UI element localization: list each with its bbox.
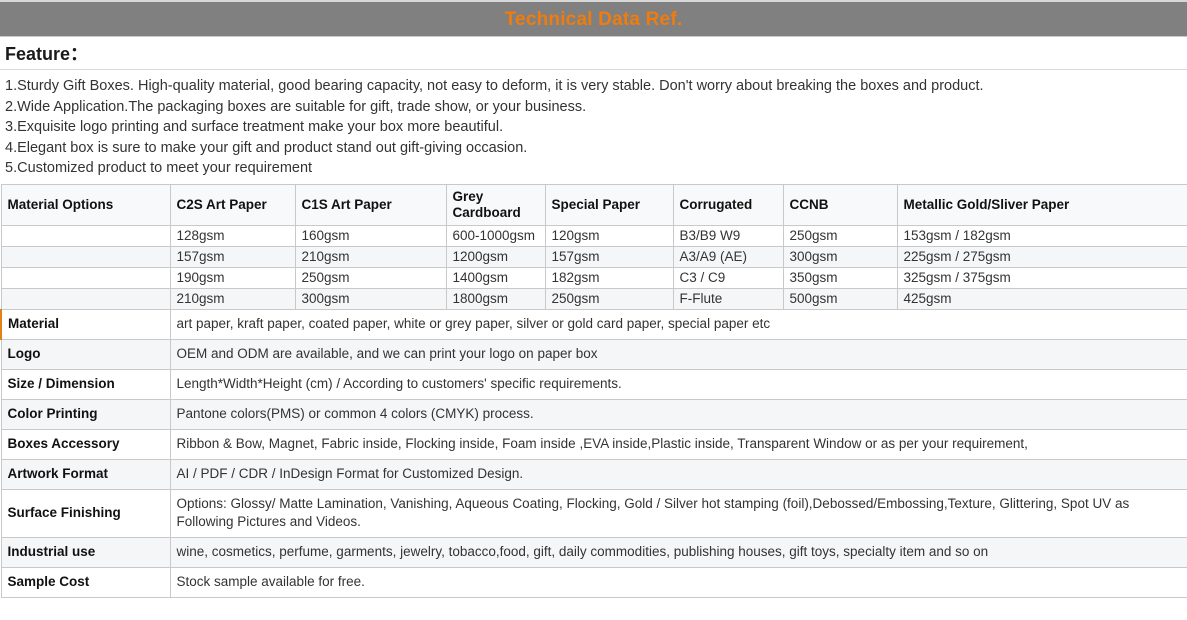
spec-label: Size / Dimension [1,369,170,399]
spec-row-sample-cost: Sample Cost Stock sample available for f… [1,567,1187,597]
matrix-cell: 128gsm [170,225,295,246]
spec-value: OEM and ODM are available, and we can pr… [170,339,1187,369]
bottom-spacer [0,598,1187,620]
matrix-cell: B3/B9 W9 [673,225,783,246]
spec-value: Stock sample available for free. [170,567,1187,597]
spec-label: Logo [1,339,170,369]
matrix-cell: 157gsm [545,246,673,267]
spec-label: Artwork Format [1,459,170,489]
table-row: 157gsm 210gsm 1200gsm 157gsm A3/A9 (AE) … [1,246,1187,267]
matrix-cell: 250gsm [545,288,673,309]
matrix-header-cell: Material Options [1,184,170,225]
spec-value: Ribbon & Bow, Magnet, Fabric inside, Flo… [170,429,1187,459]
matrix-cell: 1800gsm [446,288,545,309]
matrix-cell: 1200gsm [446,246,545,267]
matrix-header-cell: Corrugated [673,184,783,225]
matrix-header-cell: C2S Art Paper [170,184,295,225]
spec-row-logo: Logo OEM and ODM are available, and we c… [1,339,1187,369]
matrix-cell: 300gsm [295,288,446,309]
spec-value: wine, cosmetics, perfume, garments, jewe… [170,537,1187,567]
matrix-header-cell: Special Paper [545,184,673,225]
matrix-cell: F-Flute [673,288,783,309]
spec-row-size-dimension: Size / Dimension Length*Width*Height (cm… [1,369,1187,399]
spec-row-artwork-format: Artwork Format AI / PDF / CDR / InDesign… [1,459,1187,489]
matrix-cell [1,225,170,246]
spec-label: Sample Cost [1,567,170,597]
matrix-header-cell: CCNB [783,184,897,225]
matrix-cell [1,246,170,267]
matrix-cell: 157gsm [170,246,295,267]
matrix-header-row: Material Options C2S Art Paper C1S Art P… [1,184,1187,225]
matrix-cell: 300gsm [783,246,897,267]
matrix-header-cell: Grey Cardboard [446,184,545,225]
matrix-header-cell: Metallic Gold/Sliver Paper [897,184,1187,225]
matrix-cell: 1400gsm [446,267,545,288]
spec-label: Material [1,309,170,339]
spec-row-surface-finishing: Surface Finishing Options: Glossy/ Matte… [1,489,1187,537]
spec-value: Length*Width*Height (cm) / According to … [170,369,1187,399]
matrix-header-cell: C1S Art Paper [295,184,446,225]
feature-heading-row: Feature： [0,37,1187,70]
matrix-cell: 182gsm [545,267,673,288]
spec-value: AI / PDF / CDR / InDesign Format for Cus… [170,459,1187,489]
specification-table: Material Options C2S Art Paper C1S Art P… [0,184,1187,598]
spec-row-color-printing: Color Printing Pantone colors(PMS) or co… [1,399,1187,429]
spec-row-boxes-accessory: Boxes Accessory Ribbon & Bow, Magnet, Fa… [1,429,1187,459]
technical-data-sheet: Technical Data Ref. Feature： 1.Sturdy Gi… [0,0,1187,620]
spec-label: Boxes Accessory [1,429,170,459]
spec-label: Industrial use [1,537,170,567]
matrix-cell [1,288,170,309]
matrix-cell [1,267,170,288]
matrix-cell: 500gsm [783,288,897,309]
matrix-cell: 153gsm / 182gsm [897,225,1187,246]
matrix-cell: 210gsm [170,288,295,309]
table-row: 210gsm 300gsm 1800gsm 250gsm F-Flute 500… [1,288,1187,309]
table-row: 128gsm 160gsm 600-1000gsm 120gsm B3/B9 W… [1,225,1187,246]
matrix-cell: 250gsm [295,267,446,288]
spec-value: Pantone colors(PMS) or common 4 colors (… [170,399,1187,429]
matrix-cell: 225gsm / 275gsm [897,246,1187,267]
spec-value: Options: Glossy/ Matte Lamination, Vanis… [170,489,1187,537]
page-title: Technical Data Ref. [505,10,683,29]
spec-row-industrial-use: Industrial use wine, cosmetics, perfume,… [1,537,1187,567]
feature-item: 2.Wide Application.The packaging boxes a… [5,97,1187,118]
matrix-cell: 600-1000gsm [446,225,545,246]
matrix-cell: C3 / C9 [673,267,783,288]
table-row: 190gsm 250gsm 1400gsm 182gsm C3 / C9 350… [1,267,1187,288]
spec-value: art paper, kraft paper, coated paper, wh… [170,309,1187,339]
matrix-cell: 210gsm [295,246,446,267]
matrix-cell: 250gsm [783,225,897,246]
matrix-cell: 160gsm [295,225,446,246]
feature-item: 5.Customized product to meet your requir… [5,158,1187,179]
matrix-cell: 325gsm / 375gsm [897,267,1187,288]
matrix-cell: 120gsm [545,225,673,246]
feature-list: 1.Sturdy Gift Boxes. High-quality materi… [0,70,1187,184]
matrix-cell: A3/A9 (AE) [673,246,783,267]
feature-item: 4.Elegant box is sure to make your gift … [5,138,1187,159]
feature-heading: Feature： [5,40,88,66]
matrix-cell: 350gsm [783,267,897,288]
spec-label: Surface Finishing [1,489,170,537]
feature-item: 1.Sturdy Gift Boxes. High-quality materi… [5,76,1187,97]
spec-label: Color Printing [1,399,170,429]
matrix-cell: 190gsm [170,267,295,288]
spec-row-material: Material art paper, kraft paper, coated … [1,309,1187,339]
matrix-cell: 425gsm [897,288,1187,309]
title-bar: Technical Data Ref. [0,0,1187,37]
feature-item: 3.Exquisite logo printing and surface tr… [5,117,1187,138]
